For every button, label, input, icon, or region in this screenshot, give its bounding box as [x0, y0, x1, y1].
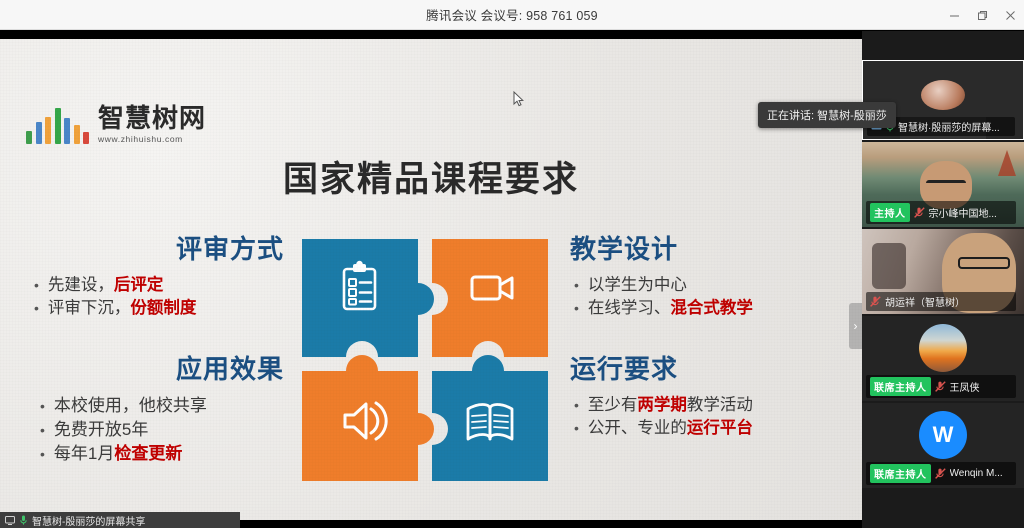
item-text: 免费开放5年	[54, 420, 148, 439]
puzzle-piece-bottom-left	[302, 355, 434, 481]
section-operation-heading: 运行要求	[570, 355, 860, 384]
section-teaching-heading: 教学设计	[570, 235, 860, 264]
puzzle-graphic	[300, 237, 550, 483]
chevron-right-icon: ›	[854, 319, 858, 333]
logo-name: 智慧树网	[98, 105, 206, 131]
minimize-button[interactable]	[940, 0, 968, 30]
item-highlight: 份额制度	[130, 299, 196, 317]
share-strip-label: 智慧树-殷丽莎的屏幕共享	[32, 513, 145, 528]
participant-name: 智慧树·殷丽莎的屏幕...	[898, 119, 1000, 134]
co-host-badge: 联席主持人	[870, 377, 931, 396]
section-teaching: 教学设计 • 以学生为中心 • 在线学习、混合式教学	[570, 235, 860, 320]
maximize-button[interactable]	[968, 0, 996, 30]
tile-label: 主持人 宗小峰中国地...	[866, 201, 1016, 224]
microphone-muted-icon	[935, 468, 946, 479]
microphone-muted-icon	[914, 207, 925, 218]
logo-bars-icon	[26, 108, 89, 144]
host-badge: 主持人	[870, 203, 910, 222]
tile-label: 胡运祥（智慧树）	[866, 292, 1016, 311]
participant-tile-3[interactable]: 胡运祥（智慧树）	[862, 229, 1024, 314]
participant-tile-host[interactable]: 主持人 宗小峰中国地...	[862, 142, 1024, 227]
microphone-icon	[20, 515, 27, 525]
list-item: • 先建设，后评定	[34, 274, 290, 297]
section-application-heading: 应用效果	[18, 355, 290, 384]
shared-screen-area[interactable]: 智慧树网 www.zhihuishu.com 国家精品课程要求 评审方式 • 先…	[0, 31, 862, 528]
bullet-icon: •	[574, 278, 579, 292]
section-teaching-list: • 以学生为中心 • 在线学习、混合式教学	[570, 274, 860, 321]
item-text: 公开、专业的	[588, 419, 687, 437]
logo-url: www.zhihuishu.com	[98, 134, 183, 144]
item-tail: 教学活动	[687, 396, 753, 414]
avatar	[919, 324, 967, 372]
participant-tile-5[interactable]: W 联席主持人 Wenqin M...	[862, 403, 1024, 488]
item-text: 先建设，	[48, 276, 114, 294]
screen-share-status-strip: 智慧树-殷丽莎的屏幕共享	[0, 512, 240, 528]
participant-name: 王凤侠	[950, 379, 980, 394]
item-highlight: 检查更新	[114, 444, 182, 463]
screen-share-icon	[5, 516, 15, 525]
bullet-icon: •	[574, 301, 579, 315]
section-review-list: • 先建设，后评定 • 评审下沉，份额制度	[18, 274, 290, 321]
tile-label: 联席主持人 Wenqin M...	[866, 462, 1016, 485]
bullet-icon: •	[574, 398, 579, 412]
item-text: 至少有	[588, 396, 638, 414]
item-text: 本校使用，他校共享	[54, 396, 207, 415]
section-operation: 运行要求 • 至少有两学期教学活动 • 公开、专业的运行平台	[570, 355, 860, 440]
item-highlight: 运行平台	[687, 419, 753, 437]
item-text: 每年1月	[54, 444, 114, 463]
participant-name: 胡运祥（智慧树）	[885, 294, 965, 309]
item-text: 以学生为中心	[588, 276, 687, 294]
slide-title: 国家精品课程要求	[0, 151, 862, 202]
participant-tile-share[interactable]: 智慧树·殷丽莎的屏幕...	[862, 60, 1024, 140]
participant-name: Wenqin M...	[950, 468, 1003, 479]
microphone-muted-icon	[935, 381, 946, 392]
bullet-icon: •	[34, 278, 39, 292]
section-review: 评审方式 • 先建设，后评定 • 评审下沉，份额制度	[18, 235, 290, 320]
slide-next-button[interactable]: ›	[849, 303, 862, 349]
item-highlight: 混合式教学	[670, 299, 753, 317]
tencent-meeting-window: 腾讯会议 会议号: 958 761 059	[0, 0, 1024, 528]
bullet-icon: •	[574, 421, 579, 435]
list-item: • 免费开放5年	[40, 418, 290, 442]
bullet-icon: •	[40, 399, 45, 413]
speaking-tooltip: 正在讲话: 智慧树-殷丽莎	[758, 102, 896, 128]
section-review-heading: 评审方式	[18, 235, 290, 264]
co-host-badge: 联席主持人	[870, 464, 931, 483]
bullet-icon: •	[40, 447, 45, 461]
section-application: 应用效果 • 本校使用，他校共享 • 免费开放5年 • 每年1月检查更新	[18, 355, 290, 466]
window-controls	[940, 0, 1024, 30]
list-item: • 以学生为中心	[574, 274, 860, 297]
bullet-icon: •	[34, 301, 39, 315]
list-item: • 本校使用，他校共享	[40, 394, 290, 418]
item-text: 评审下沉，	[48, 299, 131, 317]
item-highlight: 后评定	[114, 276, 164, 294]
participant-name: 宗小峰中国地...	[929, 205, 997, 220]
close-button[interactable]	[996, 0, 1024, 30]
list-item: • 评审下沉，份额制度	[34, 297, 290, 320]
list-item: • 公开、专业的运行平台	[574, 417, 860, 440]
zhihuishu-logo: 智慧树网 www.zhihuishu.com	[26, 105, 206, 144]
list-item: • 每年1月检查更新	[40, 442, 290, 466]
meeting-title: 腾讯会议 会议号: 958 761 059	[426, 5, 598, 24]
mouse-cursor-icon	[513, 91, 524, 107]
item-highlight: 两学期	[637, 396, 687, 414]
tile-label: 联席主持人 王凤侠	[866, 375, 1016, 398]
participant-tile-4[interactable]: 联席主持人 王凤侠	[862, 316, 1024, 401]
title-bar: 腾讯会议 会议号: 958 761 059	[0, 0, 1024, 30]
list-item: • 至少有两学期教学活动	[574, 394, 860, 417]
microphone-muted-icon	[870, 296, 881, 307]
item-text: 在线学习、	[588, 299, 671, 317]
section-application-list: • 本校使用，他校共享 • 免费开放5年 • 每年1月检查更新	[18, 394, 290, 466]
list-item: • 在线学习、混合式教学	[574, 297, 860, 320]
puzzle-piece-top-left	[302, 239, 434, 357]
section-operation-list: • 至少有两学期教学活动 • 公开、专业的运行平台	[570, 394, 860, 441]
bullet-icon: •	[40, 423, 45, 437]
avatar: W	[919, 411, 967, 459]
presentation-slide: 智慧树网 www.zhihuishu.com 国家精品课程要求 评审方式 • 先…	[0, 39, 862, 520]
